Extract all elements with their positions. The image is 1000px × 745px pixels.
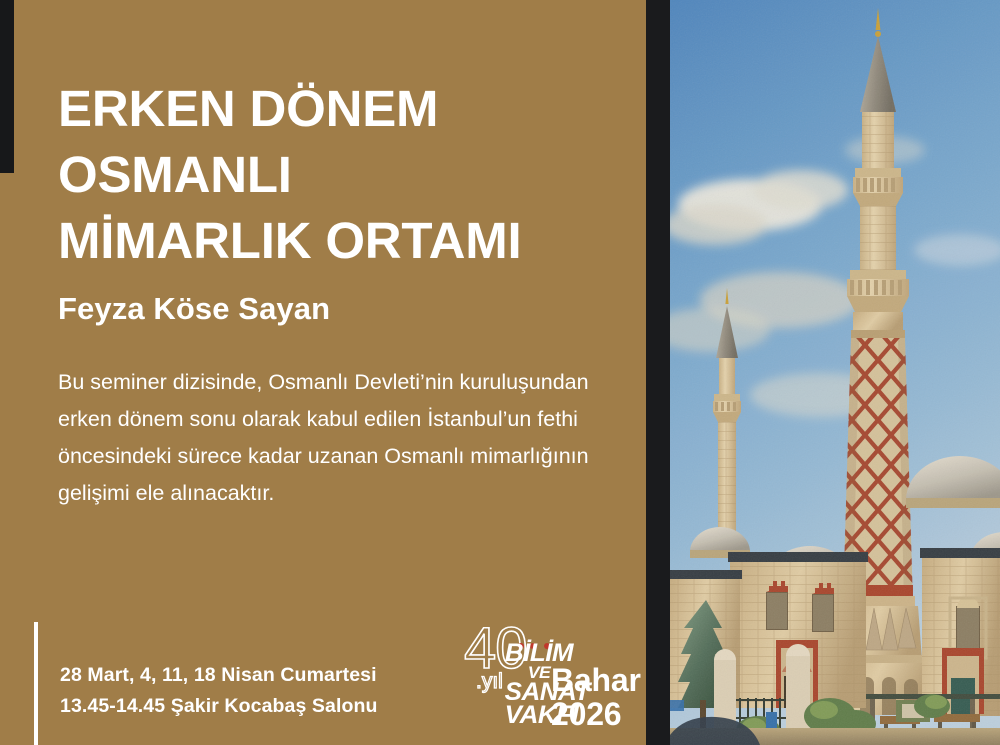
footer-accent-rule bbox=[34, 622, 38, 745]
title-line-2: OSMANLI bbox=[58, 142, 628, 208]
abstract-text: Bu seminer dizisinde, Osmanlı Devleti’ni… bbox=[58, 364, 603, 512]
title-line-1: ERKEN DÖNEM bbox=[58, 76, 628, 142]
corner-accent-bar bbox=[0, 0, 14, 173]
schedule-block: 28 Mart, 4, 11, 18 Nisan Cumartesi 13.45… bbox=[60, 660, 378, 722]
schedule-dates: 28 Mart, 4, 11, 18 Nisan Cumartesi bbox=[60, 660, 378, 691]
mosque-photo bbox=[670, 0, 1000, 745]
content-panel: ERKEN DÖNEM OSMANLI MİMARLIK ORTAMI Feyz… bbox=[0, 0, 646, 745]
anniversary-unit: .yıl bbox=[476, 671, 503, 692]
panel-divider bbox=[646, 0, 670, 745]
schedule-venue: 13.45-14.45 Şakir Kocabaş Salonu bbox=[60, 691, 378, 722]
page-title: ERKEN DÖNEM OSMANLI MİMARLIK ORTAMI bbox=[58, 76, 628, 274]
mosque-photo-illustration bbox=[670, 0, 1000, 745]
speaker-name: Feyza Köse Sayan bbox=[58, 289, 330, 329]
season-badge: Bahar 2026 bbox=[551, 663, 641, 731]
title-line-3: MİMARLIK ORTAMI bbox=[58, 208, 628, 274]
season-year: 2026 bbox=[551, 697, 641, 731]
seminar-poster: ERKEN DÖNEM OSMANLI MİMARLIK ORTAMI Feyz… bbox=[0, 0, 1000, 745]
season-label: Bahar bbox=[551, 663, 641, 697]
